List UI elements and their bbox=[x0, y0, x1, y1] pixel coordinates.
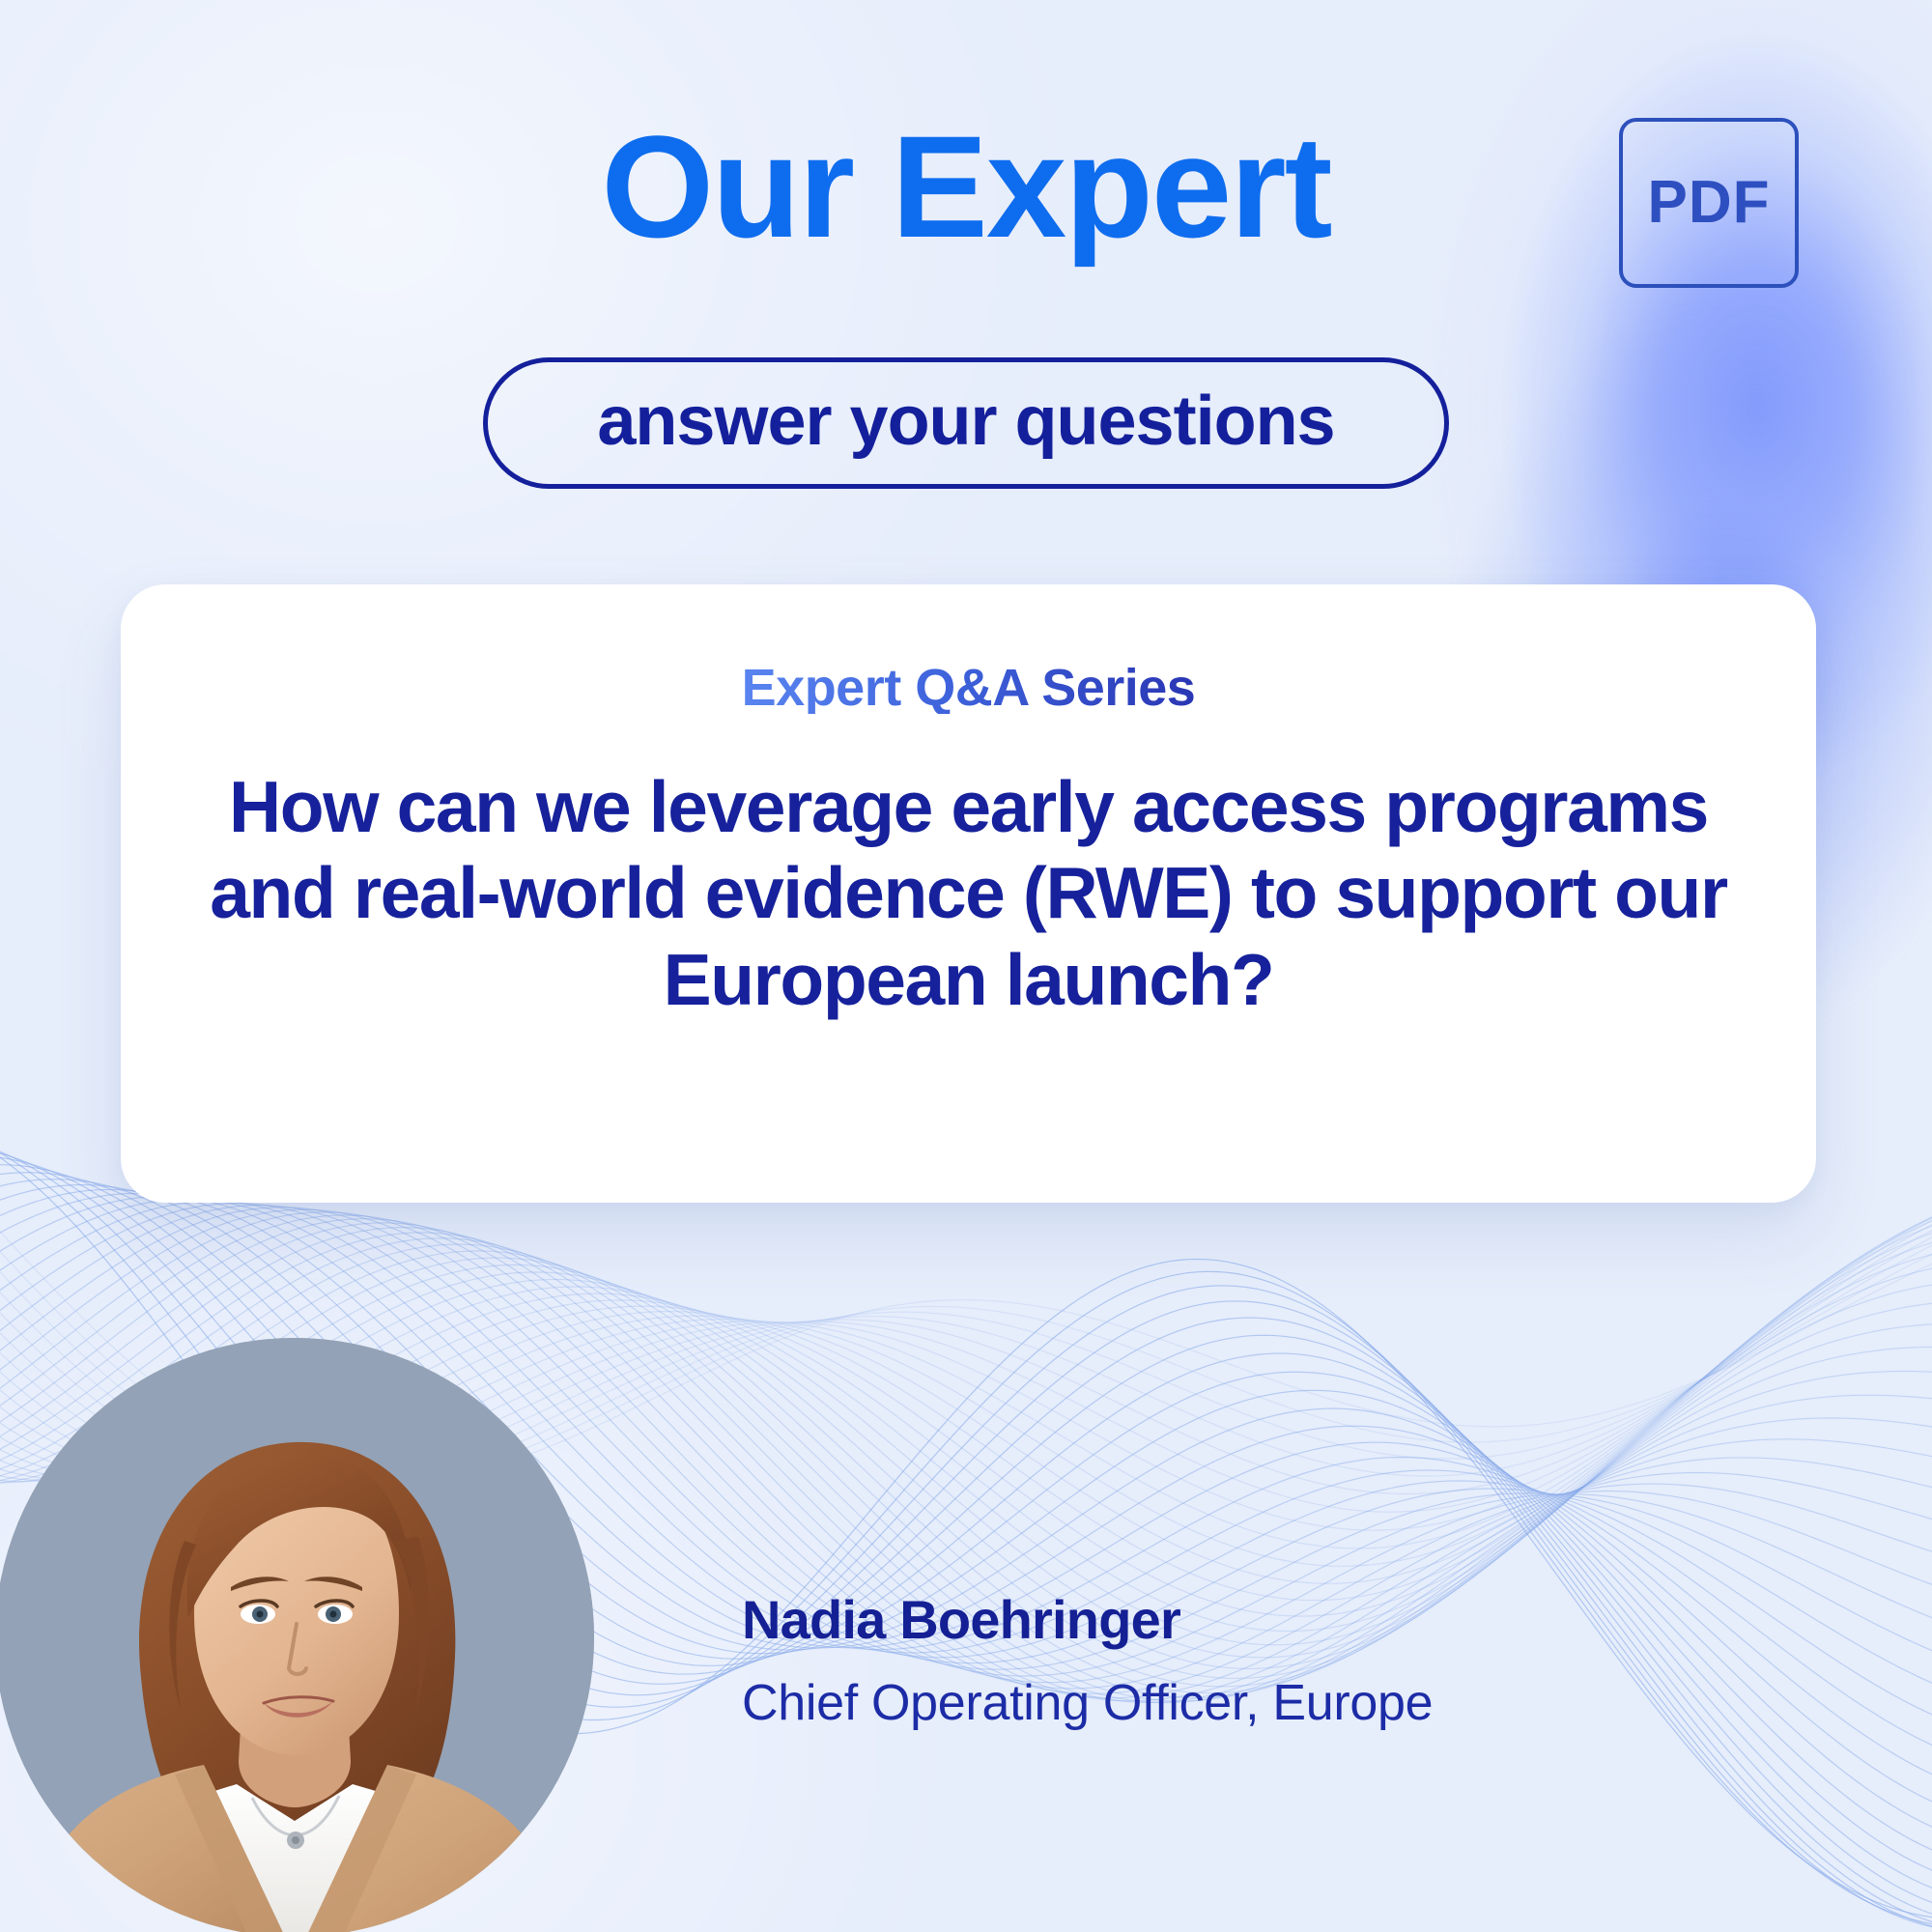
expert-meta: Nadia Boehringer Chief Operating Officer… bbox=[742, 1592, 1476, 1736]
expert-name: Nadia Boehringer bbox=[742, 1592, 1476, 1649]
expert-portrait-avatar bbox=[0, 1338, 594, 1932]
poster-canvas: Our Expert answer your questions PDF Exp… bbox=[0, 0, 1932, 1932]
subtitle-pill: answer your questions bbox=[483, 357, 1449, 489]
subtitle-pill-label: answer your questions bbox=[597, 386, 1334, 456]
pdf-badge[interactable]: PDF bbox=[1619, 118, 1799, 288]
card-question: How can we leverage early access program… bbox=[159, 764, 1777, 1023]
pdf-badge-label: PDF bbox=[1648, 173, 1771, 233]
card-eyebrow: Expert Q&A Series bbox=[742, 662, 1196, 714]
expert-role: Chief Operating Officer, Europe bbox=[742, 1670, 1476, 1737]
question-card: Expert Q&A Series How can we leverage ea… bbox=[121, 584, 1816, 1203]
